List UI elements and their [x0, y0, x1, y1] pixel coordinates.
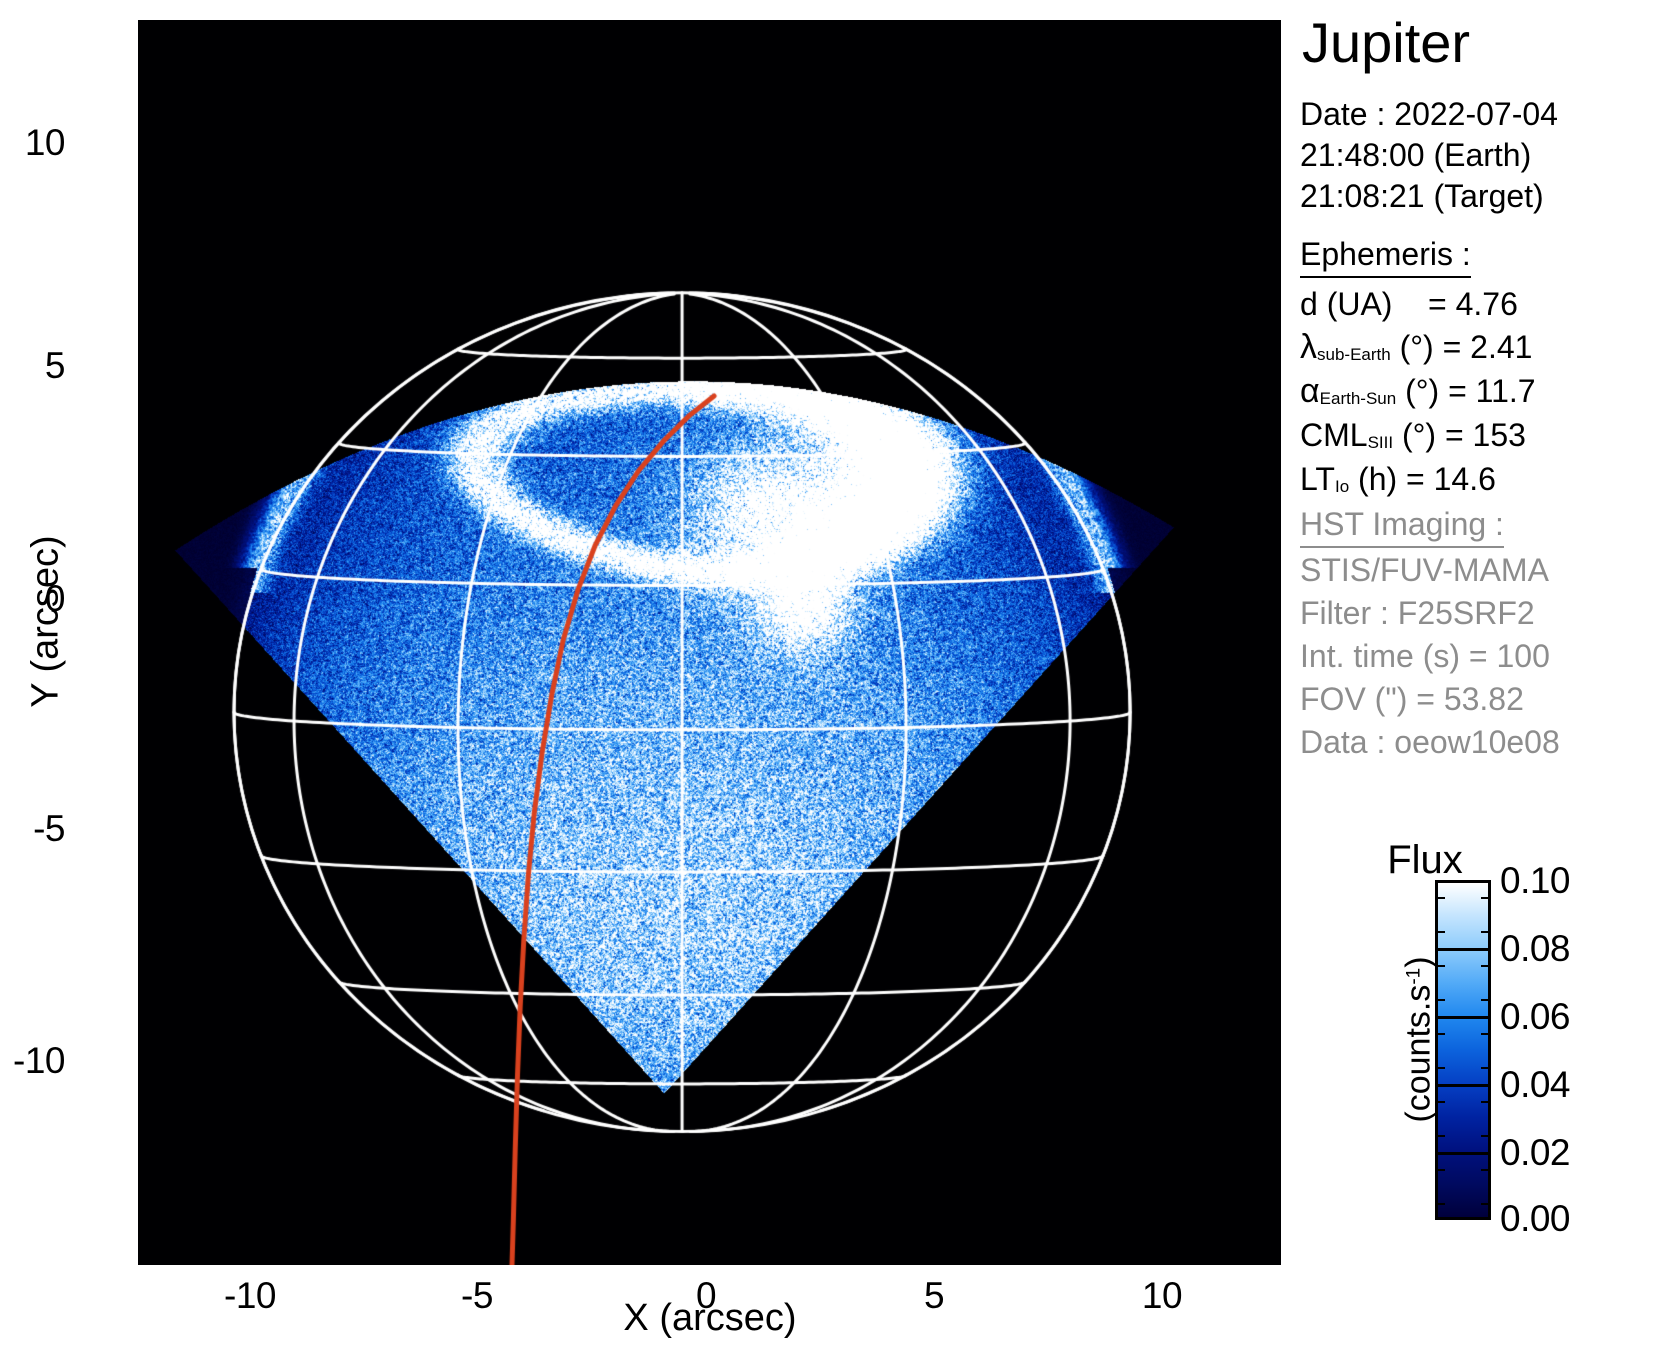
ephemeris-key-lt: LT: [1300, 461, 1335, 497]
colorbar-minor-tick: [1481, 999, 1491, 1001]
page-title: Jupiter: [1302, 14, 1470, 72]
ytick-label-5: 5: [45, 347, 65, 384]
colorbar-minor-tick: [1435, 1067, 1445, 1069]
colorbar-tick-010: [1435, 880, 1491, 883]
colorbar-minor-tick: [1481, 897, 1491, 899]
ephemeris-value-alpha: = 11.7: [1448, 373, 1535, 409]
y-axis-title: Y (arcsec): [25, 472, 68, 772]
ytick-label-neg5: -5: [33, 810, 65, 847]
colorbar-title: Flux: [1330, 838, 1520, 883]
hst-instrument: STIS/FUV-MAMA: [1300, 551, 1549, 589]
colorbar-minor-tick: [1481, 1101, 1491, 1103]
colorbar-minor-tick: [1435, 897, 1445, 899]
colorbar-label-006: 0.06: [1500, 998, 1570, 1035]
ephemeris-key-d: d (UA): [1300, 285, 1392, 323]
colorbar-minor-tick: [1435, 1169, 1445, 1171]
hst-data-id: Data : oeow10e08: [1300, 723, 1560, 761]
ytick-label-10: 10: [25, 124, 65, 161]
colorbar-minor-tick: [1435, 965, 1445, 967]
colorbar-minor-tick: [1481, 931, 1491, 933]
ephemeris-key-alpha: α: [1300, 372, 1320, 410]
ephemeris-value-cml: = 153: [1445, 417, 1526, 453]
hst-imaging-heading: HST Imaging :: [1300, 505, 1504, 543]
ephemeris-key-cml: CML: [1300, 417, 1368, 453]
ephemeris-sub-cml: SIII: [1368, 433, 1394, 452]
colorbar-unit-exponent: -1: [1404, 968, 1425, 985]
colorbar-minor-tick: [1481, 965, 1491, 967]
colorbar-unit-label: (counts.s-1): [1400, 915, 1439, 1165]
ephemeris-unit-cml: (°): [1402, 417, 1436, 453]
ephemeris-row-distance: d (UA) = 4.76: [1300, 285, 1518, 323]
colorbar-minor-tick: [1481, 1067, 1491, 1069]
colorbar-minor-tick: [1435, 1033, 1445, 1035]
ephemeris-key-lambda: λ: [1300, 328, 1317, 366]
ephemeris-row-cml: CMLSIII (°) = 153: [1300, 416, 1526, 462]
colorbar-minor-tick: [1481, 1135, 1491, 1137]
ephemeris-unit-lambda: (°): [1400, 329, 1434, 365]
ephemeris-sub-alpha: Earth-Sun: [1320, 389, 1397, 408]
colorbar-minor-tick: [1435, 1135, 1445, 1137]
ephemeris-row-local-time-io: LTIo (h) = 14.6: [1300, 460, 1496, 506]
hst-filter: Filter : F25SRF2: [1300, 594, 1535, 632]
colorbar-tick-004: [1435, 1084, 1491, 1087]
x-axis-title: X (arcsec): [0, 1297, 1420, 1340]
observation-date: Date : 2022-07-04: [1300, 95, 1558, 133]
ephemeris-unit-lt: (h): [1358, 461, 1397, 497]
colorbar-label-000: 0.00: [1500, 1200, 1570, 1237]
colorbar-label-010: 0.10: [1500, 862, 1570, 899]
ephemeris-row-phase-angle: αEarth-Sun (°) = 11.7: [1300, 372, 1536, 418]
observation-time-earth: 21:48:00 (Earth): [1300, 136, 1531, 174]
colorbar-minor-tick: [1481, 1203, 1491, 1205]
colorbar-tick-006: [1435, 1016, 1491, 1019]
hst-imaging-heading-text: HST Imaging :: [1300, 506, 1504, 548]
colorbar-label-008: 0.08: [1500, 930, 1570, 967]
colorbar-minor-tick: [1481, 1033, 1491, 1035]
colorbar-label-002: 0.02: [1500, 1134, 1570, 1171]
ephemeris-value-lambda: = 2.41: [1443, 329, 1533, 365]
image-plot-area: [138, 20, 1281, 1265]
colorbar-unit-text: (counts.s: [1400, 985, 1438, 1123]
ephemeris-heading: Ephemeris :: [1300, 235, 1471, 273]
colorbar-unit-paren: ): [1400, 956, 1438, 967]
ephemeris-heading-text: Ephemeris :: [1300, 236, 1471, 278]
ephemeris-sub-lt: Io: [1335, 477, 1349, 496]
colorbar-tick-002: [1435, 1152, 1491, 1155]
colorbar-minor-tick: [1435, 931, 1445, 933]
ytick-label-neg10: -10: [13, 1042, 65, 1079]
observation-time-target: 21:08:21 (Target): [1300, 177, 1544, 215]
colorbar-minor-tick: [1481, 1169, 1491, 1171]
ephemeris-value-lt: = 14.6: [1406, 461, 1496, 497]
colorbar-label-004: 0.04: [1500, 1066, 1570, 1103]
colorbar-minor-tick: [1435, 999, 1445, 1001]
hst-fov: FOV (") = 53.82: [1300, 680, 1524, 718]
hst-integration-time: Int. time (s) = 100: [1300, 637, 1550, 675]
colorbar-minor-tick: [1435, 1203, 1445, 1205]
ephemeris-sub-lambda: sub-Earth: [1317, 345, 1391, 364]
colorbar-minor-tick: [1435, 1101, 1445, 1103]
jupiter-aurora-image: [138, 20, 1281, 1265]
ephemeris-unit-alpha: (°): [1405, 373, 1439, 409]
ephemeris-value-d: = 4.76: [1428, 286, 1518, 322]
colorbar-tick-000: [1435, 1217, 1491, 1220]
ephemeris-row-sub-earth-lat: λsub-Earth (°) = 2.41: [1300, 328, 1532, 374]
colorbar-tick-008: [1435, 948, 1491, 951]
